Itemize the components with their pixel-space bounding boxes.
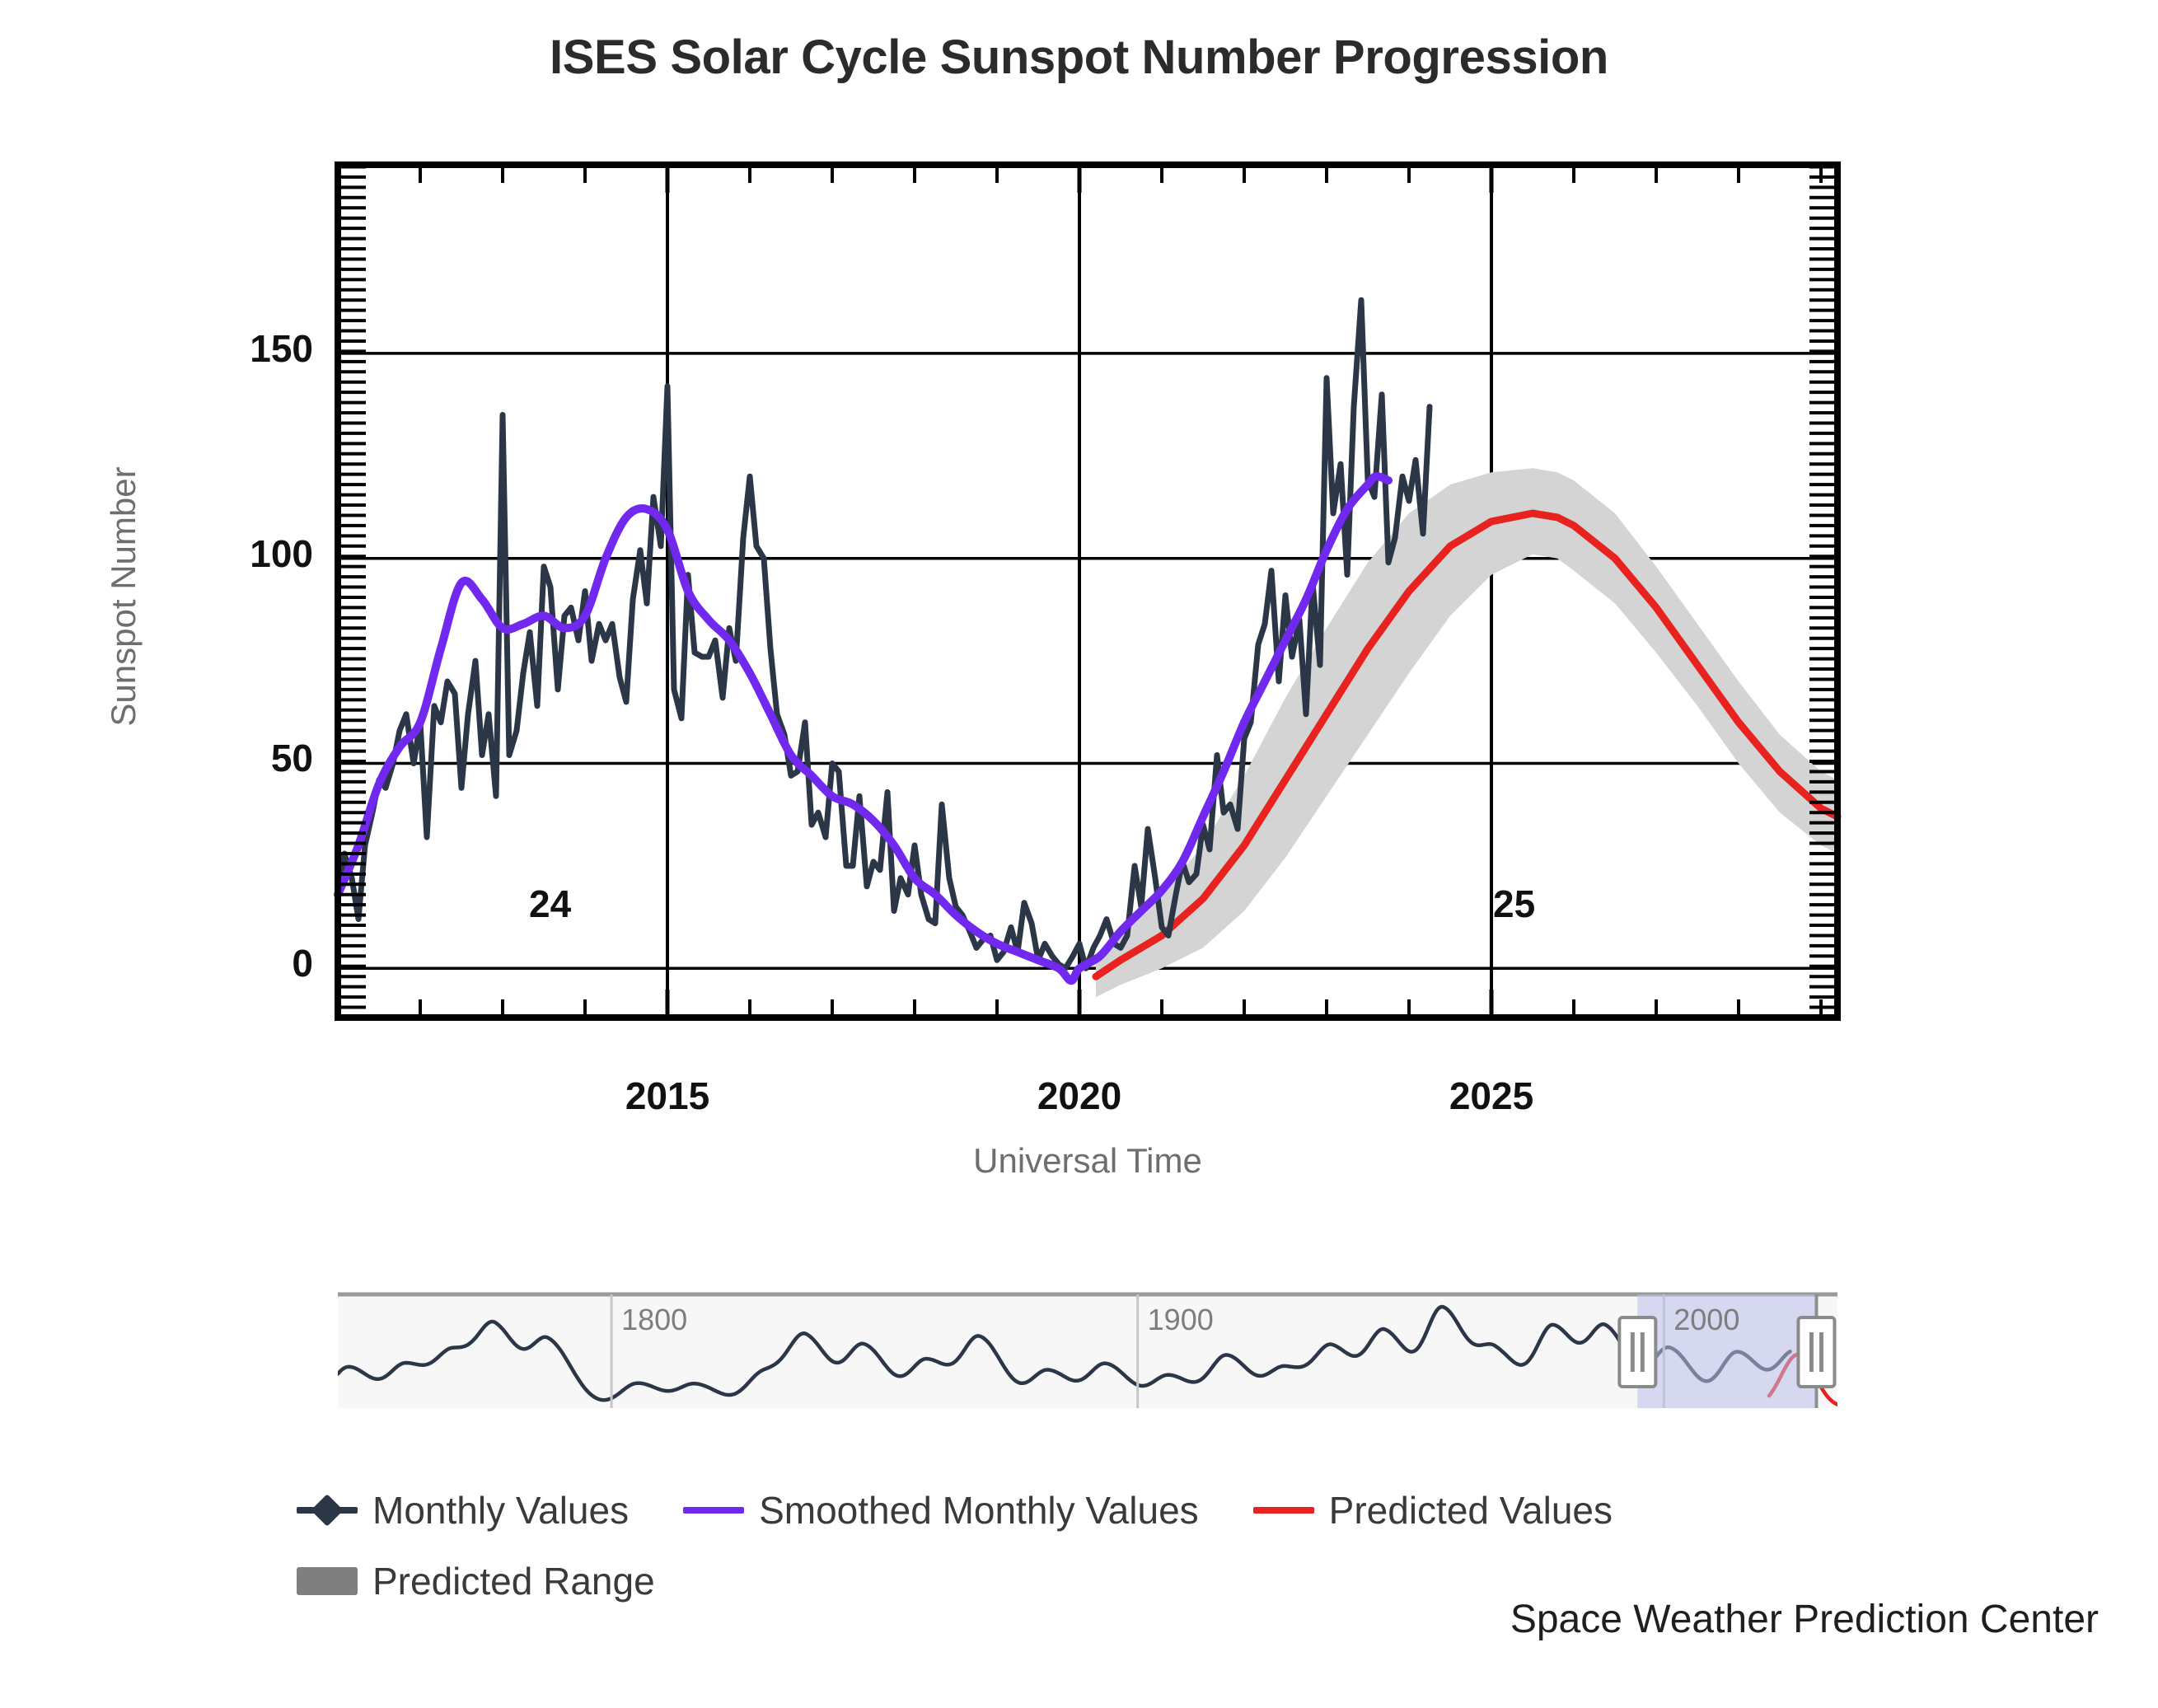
x-axis-title: Universal Time [338, 1141, 1837, 1181]
legend-label-monthly: Monthly Values [372, 1488, 629, 1533]
legend-item-monthly[interactable]: Monthly Values [297, 1475, 629, 1546]
navigator-tick-1800: 1800 [621, 1303, 687, 1337]
cycle-25-label: 25 [1493, 882, 1535, 926]
predicted-values-swatch-icon [1253, 1507, 1314, 1514]
legend: Monthly Values Smoothed Monthly Values P… [297, 1475, 1945, 1617]
navigator-drag-handle[interactable] [1798, 1317, 1834, 1387]
y-tick-label-150: 150 [148, 326, 313, 371]
legend-item-smoothed[interactable]: Smoothed Monthly Values [683, 1475, 1199, 1546]
chart-page: ISES Solar Cycle Sunspot Number Progress… [0, 0, 2158, 1708]
y-tick-label-0: 0 [148, 941, 313, 985]
y-tick-label-100: 100 [148, 531, 313, 576]
monthly-values-swatch-icon [297, 1498, 358, 1523]
main-plot-area[interactable]: Sunspot Number Universal Time 0 50 100 1… [0, 0, 2158, 1236]
cycle-24-label: 24 [529, 882, 571, 926]
x-tick-label-2015: 2015 [560, 1074, 775, 1118]
y-axis-title: Sunspot Number [104, 423, 143, 770]
navigator-tick-2000: 2000 [1674, 1303, 1739, 1337]
smoothed-values-swatch-icon [683, 1507, 744, 1514]
navigator[interactable]: 1800 1900 2000 [338, 1273, 1837, 1430]
navigator-drag-handle[interactable] [1619, 1317, 1655, 1387]
y-tick-label-50: 50 [148, 736, 313, 780]
predicted-range-swatch-icon [297, 1567, 358, 1595]
legend-item-predicted[interactable]: Predicted Values [1253, 1475, 1613, 1546]
legend-label-range: Predicted Range [372, 1559, 655, 1603]
navigator-tick-1900: 1900 [1148, 1303, 1214, 1337]
credit-text: Space Weather Prediction Center [1510, 1597, 2099, 1642]
navigator-svg[interactable] [338, 1273, 1837, 1430]
x-tick-label-2025: 2025 [1384, 1074, 1599, 1118]
legend-label-smoothed: Smoothed Monthly Values [759, 1488, 1199, 1533]
legend-label-predicted: Predicted Values [1329, 1488, 1613, 1533]
x-tick-label-2020: 2020 [972, 1074, 1187, 1118]
plot-svg [0, 0, 2158, 1236]
